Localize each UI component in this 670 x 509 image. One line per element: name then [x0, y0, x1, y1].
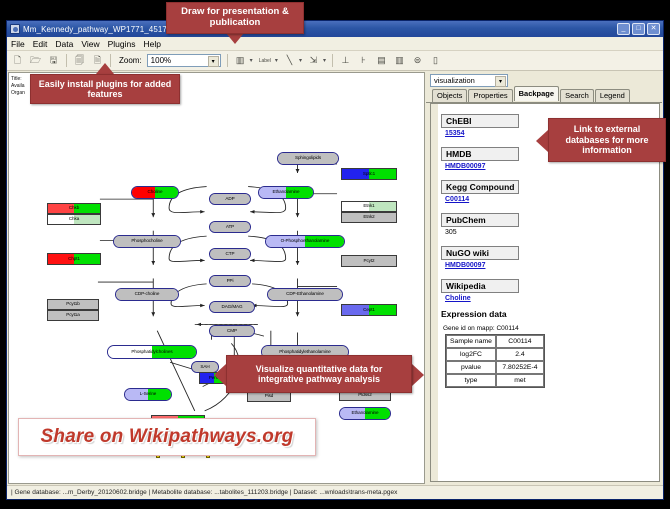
gene-node-chka[interactable]: Chka — [47, 214, 101, 225]
node-label: Etnk1 — [363, 204, 374, 209]
line-chevron-down-icon[interactable]: ▾ — [299, 57, 302, 64]
callout-viz-left-arrow-icon — [214, 364, 226, 386]
tab-backpage[interactable]: Backpage — [514, 86, 559, 101]
table-row: log2FC 2.4 — [446, 348, 544, 361]
node-label: ATP — [226, 225, 234, 230]
callout-install-plugins: Easily install plugins for added feature… — [30, 74, 180, 104]
metabolite-node-l-serine-1[interactable]: L-Serine — [124, 388, 172, 401]
callout-draw-for-publication: Draw for presentation & publication — [166, 2, 304, 34]
db-link-hmdb[interactable]: HMDB00097 — [445, 163, 659, 170]
node-label: Cept1 — [363, 308, 375, 313]
callout-visualize-data: Visualize quantitative data for integrat… — [226, 355, 412, 393]
status-bar: | Gene database: ...m_Derby_20120602.bri… — [7, 485, 663, 499]
metabolite-node-atp[interactable]: ATP — [209, 221, 251, 233]
backpage-left-gutter — [431, 104, 438, 481]
node-label: ADP — [225, 197, 234, 202]
align-top-icon[interactable]: ⊥ — [339, 54, 352, 67]
metabolite-node-ethanolamine-2[interactable]: Ethanolamine — [339, 407, 391, 420]
node-label: Chka — [69, 217, 79, 222]
zoom-label: Zoom: — [119, 56, 142, 65]
gene-node-etnk1[interactable]: Etnk1 — [341, 201, 397, 212]
tab-legend[interactable]: Legend — [595, 89, 630, 102]
distribute-h-icon[interactable]: ▥ — [393, 54, 406, 67]
cell-pvalue-label: pvalue — [446, 361, 496, 374]
gene-node-pcyt1a[interactable]: Pcyt1a — [47, 310, 99, 321]
node-label: CDP-Ethanolamine — [286, 292, 324, 297]
gene-node-cept1[interactable]: Cept1 — [341, 304, 397, 316]
node-label: Sptlc1 — [363, 172, 375, 177]
node-label: Choline — [148, 190, 163, 195]
table-row: type met — [446, 374, 544, 387]
node-label: Ethanolamine — [273, 190, 300, 195]
cell-sample-name-label: Sample name — [446, 335, 496, 348]
gene-node-chkb[interactable]: Chkb — [47, 203, 101, 214]
line-icon[interactable]: ╲ — [283, 54, 296, 67]
gene-id-on-mapp: Gene id on mapp: C00114 — [443, 325, 659, 332]
metabolite-node-sphingolipids[interactable]: Sphingolipids — [277, 152, 339, 165]
metabolite-node-choline-top[interactable]: Choline — [131, 186, 179, 199]
menu-item-view[interactable]: View — [81, 39, 99, 49]
menu-item-file[interactable]: File — [11, 39, 25, 49]
common-width-icon[interactable]: ⊜ — [411, 54, 424, 67]
side-panel-tabs: Objects Properties Backpage Search Legen… — [426, 89, 662, 103]
cell-log2fc-value: 2.4 — [496, 348, 544, 361]
copy-icon[interactable]: 🗐 — [73, 54, 86, 67]
visualization-value: visualization — [434, 76, 475, 85]
metabolite-node-adp[interactable]: ADP — [209, 193, 251, 205]
callout-link-arrow-icon — [536, 130, 548, 152]
db-section-wikipedia: Wikipedia Choline — [441, 276, 659, 302]
db-header-wikipedia: Wikipedia — [441, 279, 519, 293]
title-bar: Mm_Kennedy_pathway_WP1771_45176.gpml _ □… — [7, 21, 663, 37]
db-section-pubchem: PubChem 305 — [441, 210, 659, 236]
maximize-button[interactable]: □ — [632, 23, 645, 35]
zoom-combobox[interactable]: 100% ▾ — [147, 54, 221, 67]
metabolite-node-cdp-choline[interactable]: CDP-choline — [115, 288, 179, 301]
node-label: Ptdss2 — [358, 393, 371, 398]
expression-data-table: Sample name C00114 log2FC 2.4 pvalue 7.8… — [445, 334, 545, 388]
cell-type-label: type — [446, 374, 496, 387]
cell-type-value: met — [496, 374, 544, 387]
status-bar-text: | Gene database: ...m_Derby_20120602.bri… — [11, 489, 397, 496]
window-controls: _ □ ✕ — [617, 23, 660, 35]
label-icon[interactable]: Label — [258, 54, 272, 67]
visualization-combobox[interactable]: visualization ▾ — [430, 74, 508, 87]
gene-node-etnk2[interactable]: Etnk2 — [341, 212, 397, 223]
node-label: Sphingolipids — [295, 156, 321, 161]
gene-node-sptlc1[interactable]: Sptlc1 — [341, 168, 397, 180]
cell-pvalue-value: 7.80252E-4 — [496, 361, 544, 374]
node-label: Etnk2 — [363, 215, 374, 220]
node-label: Chpt1 — [68, 257, 80, 262]
chevron-down-icon[interactable]: ▾ — [208, 56, 219, 67]
stack-icon[interactable]: ▯ — [429, 54, 442, 67]
metabolite-node-o-phosphoeth[interactable]: O-Phosphoethanolamine — [265, 235, 345, 248]
db-value-pubchem: 305 — [445, 229, 659, 236]
node-label: SAH — [200, 365, 209, 370]
interaction-icon[interactable]: ⇲ — [307, 54, 320, 67]
open-icon[interactable]: 🗁 — [29, 54, 42, 67]
gene-node-pcyt2[interactable]: Pcyt2 — [341, 255, 397, 267]
db-section-kegg: Kegg Compound C00114 — [441, 177, 659, 203]
metabolite-node-ppi[interactable]: PPi — [209, 275, 251, 287]
node-label: Phosphatidylcholines — [131, 350, 172, 355]
share-text: Share on Wikipathways.org — [41, 426, 294, 448]
db-header-hmdb: HMDB — [441, 147, 519, 161]
metabolite-node-cdp-ethanol[interactable]: CDP-Ethanolamine — [267, 288, 343, 301]
node-label: Pcyt1b — [66, 302, 79, 307]
menu-item-help[interactable]: Help — [144, 39, 161, 49]
tab-objects[interactable]: Objects — [432, 89, 467, 102]
app-icon — [10, 24, 20, 34]
db-header-nugo-wiki: NuGO wiki — [441, 246, 519, 260]
metabolite-node-ctp[interactable]: CTP — [209, 248, 251, 260]
table-row: pvalue 7.80252E-4 — [446, 361, 544, 374]
interaction-chevron-down-icon[interactable]: ▾ — [323, 57, 326, 64]
gene-node-chpt1[interactable]: Chpt1 — [47, 253, 101, 265]
node-label: Pisd — [265, 394, 274, 399]
save-icon[interactable]: 🖫 — [47, 54, 60, 67]
db-link-nugo-wiki[interactable]: HMDB00097 — [445, 262, 659, 269]
tab-properties[interactable]: Properties — [468, 89, 512, 102]
callout-share-wikipathways: Share on Wikipathways.org — [18, 418, 316, 456]
node-label: Pcyt2 — [364, 259, 375, 264]
node-label: PPi — [227, 279, 234, 284]
cell-sample-name-value: C00114 — [496, 335, 544, 348]
expression-data-title: Expression data — [441, 309, 659, 319]
metabolite-node-phosphocholine[interactable]: Phosphocholine — [113, 235, 181, 248]
node-label: DAG/MAG — [222, 305, 243, 310]
db-header-kegg-compound: Kegg Compound — [441, 180, 519, 194]
callout-plugins-arrow-icon — [96, 63, 114, 74]
table-row: Sample name C00114 — [446, 335, 544, 348]
label-chevron-down-icon[interactable]: ▾ — [275, 57, 278, 64]
callout-draw-arrow-icon — [226, 33, 244, 44]
menu-item-edit[interactable]: Edit — [33, 39, 48, 49]
node-label: L-Serine — [140, 392, 157, 397]
close-button[interactable]: ✕ — [647, 23, 660, 35]
node-label: CMP — [227, 329, 237, 334]
node-label: CTP — [226, 252, 235, 257]
new-icon[interactable]: 🗋 — [11, 54, 24, 67]
metabolite-node-cmp[interactable]: CMP — [209, 325, 255, 337]
chevron-down-icon[interactable]: ▾ — [495, 76, 506, 87]
node-label: CDP-choline — [135, 292, 160, 297]
db-header-chebi: ChEBI — [441, 114, 519, 128]
toolbar-separator-3 — [227, 54, 228, 67]
db-link-wikipedia[interactable]: Choline — [445, 295, 659, 302]
node-label: Pcyt1a — [66, 313, 79, 318]
db-link-kegg-compound[interactable]: C00114 — [445, 196, 659, 203]
datanode-icon[interactable]: ▥ — [234, 54, 247, 67]
datanode-chevron-down-icon[interactable]: ▾ — [250, 57, 253, 64]
db-section-nugo: NuGO wiki HMDB00097 — [441, 243, 659, 269]
menu-bar: File Edit Data View Plugins Help — [7, 37, 663, 51]
tab-search[interactable]: Search — [560, 89, 594, 102]
align-left-icon[interactable]: ⊦ — [357, 54, 370, 67]
distribute-v-icon[interactable]: ▤ — [375, 54, 388, 67]
callout-link-external-db: Link to external databases for more info… — [548, 118, 666, 162]
node-label: Phosphocholine — [131, 239, 162, 244]
metabolite-node-dag-mag[interactable]: DAG/MAG — [209, 301, 255, 313]
node-label: O-Phosphoethanolamine — [281, 239, 330, 244]
menu-item-plugins[interactable]: Plugins — [108, 39, 136, 49]
toolbar-separator-1 — [66, 54, 67, 67]
minimize-button[interactable]: _ — [617, 23, 630, 35]
menu-item-data[interactable]: Data — [55, 39, 73, 49]
node-label: Chkb — [69, 206, 79, 211]
metabolite-node-ethanolamine[interactable]: Ethanolamine — [258, 186, 314, 199]
callout-viz-right-arrow-icon — [412, 364, 424, 386]
db-header-pubchem: PubChem — [441, 213, 519, 227]
cell-log2fc-label: log2FC — [446, 348, 496, 361]
toolbar-separator-4 — [332, 54, 333, 67]
node-label: Phosphatidylethanolamine — [279, 350, 331, 355]
node-label: Ethanolamine — [352, 411, 379, 416]
metabolite-node-ptd-cholines[interactable]: Phosphatidylcholines — [107, 345, 197, 359]
zoom-value: 100% — [151, 56, 171, 65]
gene-node-pcyt1b[interactable]: Pcyt1b — [47, 299, 99, 310]
